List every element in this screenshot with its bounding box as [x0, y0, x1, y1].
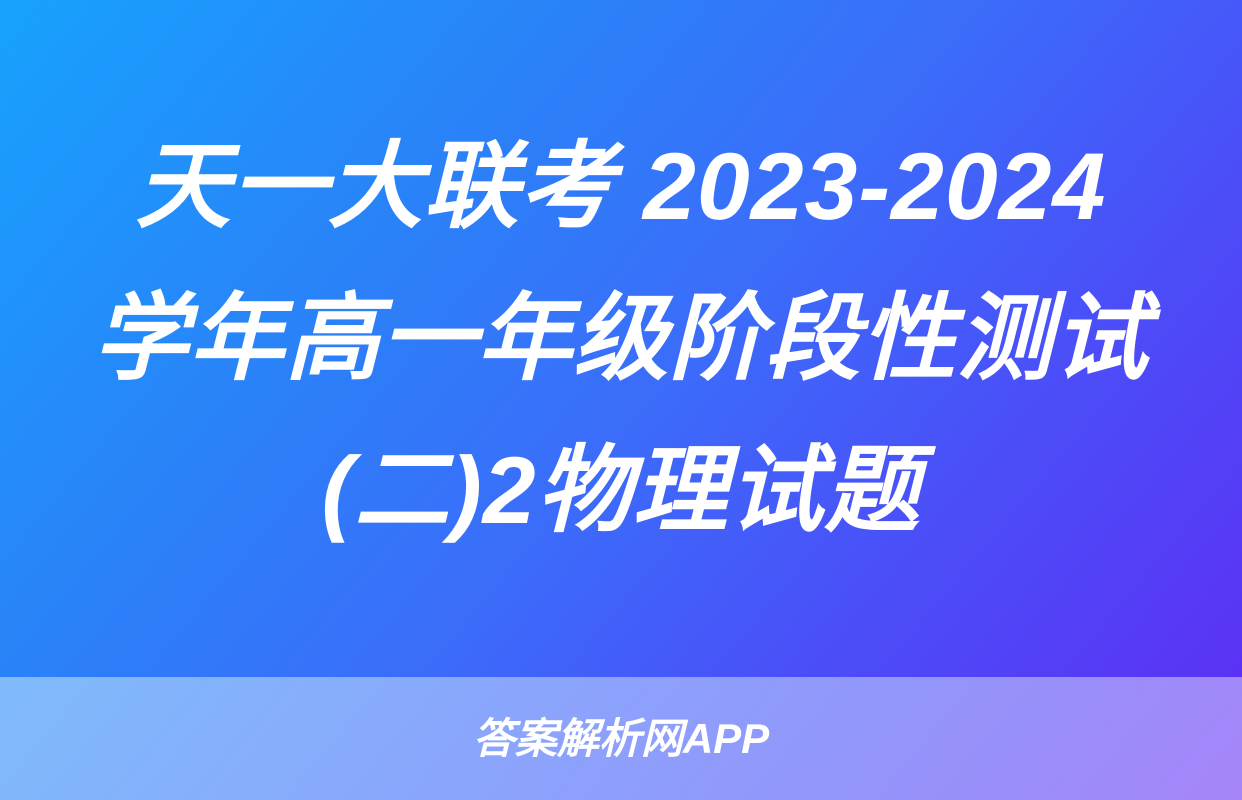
title-panel: 天一大联考 2023-2024 学年高一年级阶段性测试 (二)2物理试题 [0, 0, 1242, 677]
exam-title-card: 天一大联考 2023-2024 学年高一年级阶段性测试 (二)2物理试题 答案解… [0, 0, 1242, 800]
title-line-2: 学年高一年级阶段性测试 [93, 263, 1149, 415]
footer-band: 答案解析网APP [0, 677, 1242, 800]
title-line-1: 天一大联考 2023-2024 [136, 111, 1107, 263]
watermark-brand-label: 答案解析网APP [473, 718, 769, 760]
title-line-3: (二)2物理试题 [321, 415, 920, 567]
